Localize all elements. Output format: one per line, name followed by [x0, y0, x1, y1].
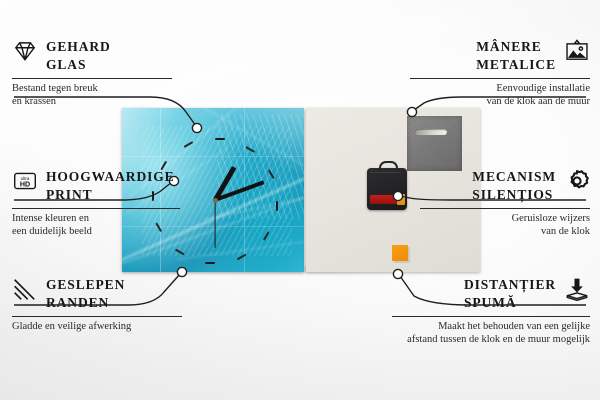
callout-title: HOOGWAARDIGE PRINT	[46, 168, 175, 204]
callout-title-line1: GESLEPEN	[46, 277, 125, 292]
clock-center-hub	[213, 198, 218, 203]
gear-icon	[564, 168, 590, 194]
callout-title-line2: METALICE	[476, 57, 556, 72]
callout-title: DISTANȚIER SPUMĂ	[464, 276, 556, 312]
callout-subtitle-line2: van de klok aan de muur	[410, 96, 590, 109]
callout-subtitle-line1: Bestand tegen breuk	[12, 83, 172, 96]
callout-title-line1: HOOGWAARDIGE	[46, 169, 175, 184]
callout-subtitle-line2: afstand tussen de klok en de muur mogeli…	[392, 334, 590, 347]
callout-mecanism-silentios[interactable]: MECANISM SILENȚIOS Geruisloze wijzers va…	[420, 168, 590, 238]
clock-tick	[276, 201, 278, 211]
callout-title: GESLEPEN RANDEN	[46, 276, 125, 312]
callout-distantier-spuma[interactable]: DISTANȚIER SPUMĂ Maakt het behouden van …	[392, 276, 590, 346]
callout-title-line1: MÂNERE	[476, 39, 541, 54]
infographic-canvas: GEHARD GLAS Bestand tegen breuk en krass…	[0, 0, 600, 400]
callout-subtitle-line1: Intense kleuren en	[12, 213, 180, 226]
callout-subtitle-line2: een duidelijk beeld	[12, 226, 180, 239]
clock-tick	[215, 138, 225, 140]
bevelled-edge-icon	[12, 276, 38, 302]
callout-title: MÂNERE METALICE	[476, 38, 556, 74]
callout-title-line2: GLAS	[46, 57, 86, 72]
callout-rule	[12, 316, 182, 317]
callout-title: MECANISM SILENȚIOS	[472, 168, 556, 204]
callout-subtitle-line1: Maakt het behouden van een gelijke	[392, 321, 590, 334]
callout-title: GEHARD GLAS	[46, 38, 111, 74]
callout-subtitle-line1: Geruisloze wijzers	[420, 213, 590, 226]
callout-gehard-glas[interactable]: GEHARD GLAS Bestand tegen breuk en krass…	[12, 38, 172, 108]
ultra-hd-icon: ultra HD	[12, 168, 38, 194]
clock-mechanism	[367, 168, 407, 210]
callout-title-line2: PRINT	[46, 187, 93, 202]
callout-geslepen-randen[interactable]: GESLEPEN RANDEN Gladde en veilige afwerk…	[12, 276, 182, 334]
spacer-arrow-icon	[564, 276, 590, 302]
callout-title-line2: SPUMĂ	[464, 295, 517, 310]
callout-manere-metalice[interactable]: MÂNERE METALICE Eenvoudige installatie v…	[410, 38, 590, 108]
callout-rule	[410, 78, 590, 79]
callout-header: MECANISM SILENȚIOS	[420, 168, 590, 204]
callout-hoogwaardige-print[interactable]: ultra HD HOOGWAARDIGE PRINT Intense kleu…	[12, 168, 180, 238]
callout-subtitle-line2: van de klok	[420, 226, 590, 239]
clock-second-hand	[214, 200, 215, 248]
callout-title-line2: SILENȚIOS	[472, 187, 553, 202]
callout-header: MÂNERE METALICE	[410, 38, 590, 74]
callout-subtitle-line2: en krassen	[12, 96, 172, 109]
metal-hanger-plate	[407, 116, 462, 171]
foam-spacer	[392, 245, 408, 261]
clock-tick	[263, 231, 269, 240]
diamond-icon	[12, 38, 38, 64]
callout-rule	[420, 208, 590, 209]
callout-header: ultra HD HOOGWAARDIGE PRINT	[12, 168, 180, 204]
clock-tick	[246, 146, 255, 152]
clock-tick	[205, 262, 215, 264]
clock-tick	[184, 141, 193, 147]
callout-subtitle-line1: Gladde en veilige afwerking	[12, 321, 182, 334]
clock-tick	[175, 249, 184, 255]
callout-rule	[12, 78, 172, 79]
callout-title-line2: RANDEN	[46, 295, 109, 310]
picture-frame-icon	[564, 38, 590, 64]
callout-header: GESLEPEN RANDEN	[12, 276, 182, 312]
callout-subtitle-line1: Eenvoudige installatie	[410, 83, 590, 96]
mechanism-highlight	[370, 172, 400, 173]
callout-rule	[12, 208, 180, 209]
callout-header: DISTANȚIER SPUMĂ	[392, 276, 590, 312]
clock-tick	[237, 254, 246, 260]
callout-title-line1: GEHARD	[46, 39, 111, 54]
callout-header: GEHARD GLAS	[12, 38, 172, 74]
clock-tick	[268, 169, 274, 178]
callout-rule	[392, 316, 590, 317]
battery	[370, 195, 404, 204]
callout-title-line1: MECANISM	[472, 169, 556, 184]
hanger-slot	[415, 129, 447, 135]
callout-title-line1: DISTANȚIER	[464, 277, 556, 292]
svg-text:HD: HD	[20, 181, 30, 189]
